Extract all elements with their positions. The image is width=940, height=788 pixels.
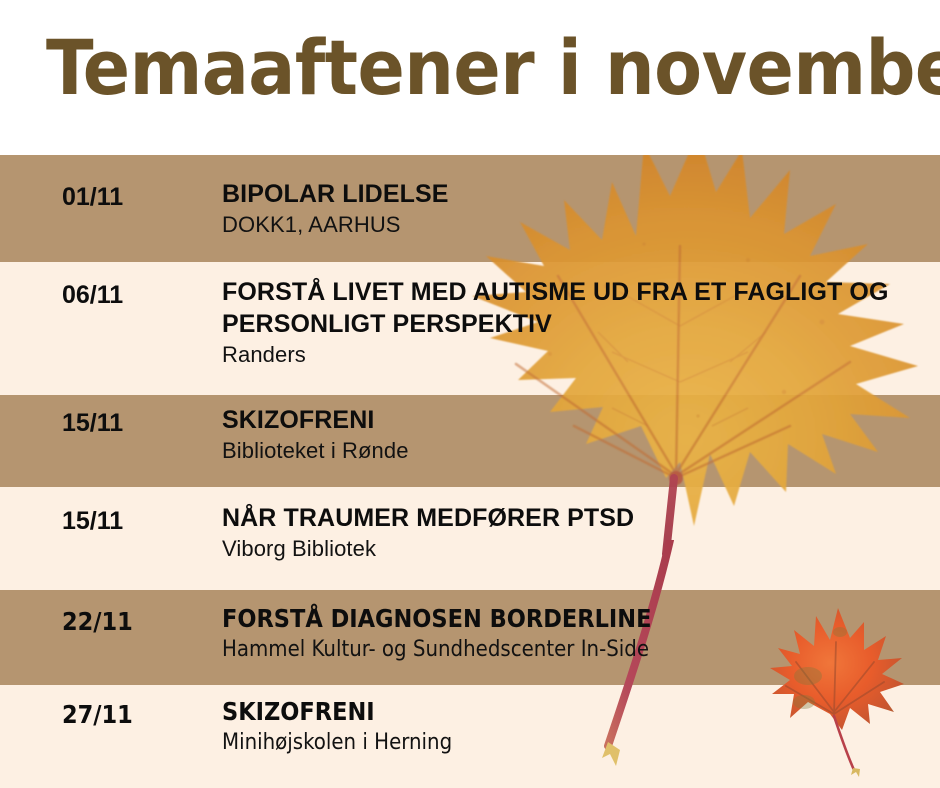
event-title: BIPOLAR LIDELSE [222,178,922,210]
event-venue: DOKK1, AARHUS [222,210,922,239]
event-venue: Viborg Bibliotek [222,534,922,563]
event-venue: Biblioteket i Rønde [222,436,922,465]
event-text-block: SKIZOFRENIMinihøjskolen i Herning [222,696,922,757]
page-title: Temaaftener i november [46,26,923,110]
poster-canvas: Temaaftener i november 01/11BIPOLAR LIDE… [0,0,940,788]
event-date: 06/11 [62,280,123,310]
event-venue: Randers [222,340,922,369]
event-date: 15/11 [62,408,123,438]
event-title: SKIZOFRENI [222,696,922,728]
event-date: 27/11 [62,700,133,730]
event-text-block: SKIZOFRENIBiblioteket i Rønde [222,404,922,465]
event-text-block: NÅR TRAUMER MEDFØRER PTSDViborg Bibliote… [222,502,922,563]
event-text-block: FORSTÅ DIAGNOSEN BORDERLINEHammel Kultur… [222,603,922,664]
event-title: SKIZOFRENI [222,404,922,436]
event-text-block: FORSTÅ LIVET MED AUTISME UD FRA ET FAGLI… [222,276,922,369]
event-date: 01/11 [62,182,123,212]
event-venue: Minihøjskolen i Herning [222,728,922,757]
event-title: NÅR TRAUMER MEDFØRER PTSD [222,502,922,534]
event-venue: Hammel Kultur- og Sundhedscenter In-Side [222,635,922,664]
event-date: 15/11 [62,506,123,536]
title-banner: Temaaftener i november [0,0,940,155]
event-title: FORSTÅ LIVET MED AUTISME UD FRA ET FAGLI… [222,276,922,340]
event-text-block: BIPOLAR LIDELSEDOKK1, AARHUS [222,178,922,239]
event-date: 22/11 [62,607,133,637]
event-title: FORSTÅ DIAGNOSEN BORDERLINE [222,603,922,635]
